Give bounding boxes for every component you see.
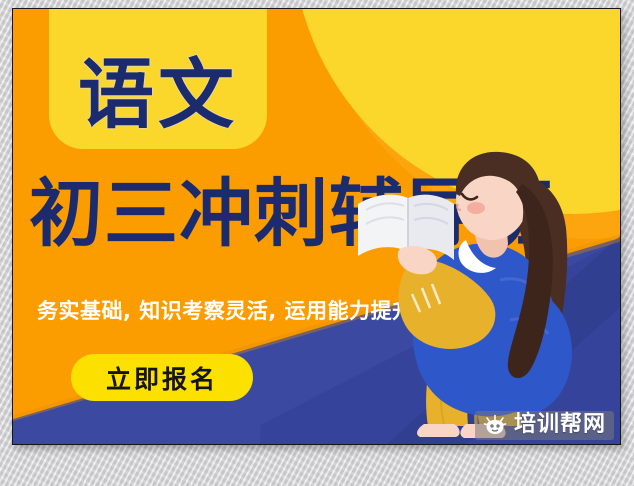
enroll-now-button-label: 立即报名 xyxy=(106,360,218,396)
subject-chip-label: 语文 xyxy=(78,57,238,133)
watermark: 培训帮网 xyxy=(475,411,614,440)
headline: 初三冲刺辅导班 xyxy=(29,177,609,252)
subtitle: 务实基础, 知识考察灵活, 运用能力提升 xyxy=(37,295,414,325)
poster-card: 语文 初三冲刺辅导班 务实基础, 知识考察灵活, 运用能力提升 立即报名 xyxy=(12,8,621,445)
sun-face-icon xyxy=(483,414,507,436)
enroll-now-button[interactable]: 立即报名 xyxy=(71,354,253,401)
poster-root: 语文 初三冲刺辅导班 务实基础, 知识考察灵活, 运用能力提升 立即报名 xyxy=(0,0,634,486)
watermark-text: 培训帮网 xyxy=(514,414,606,436)
subject-chip: 语文 xyxy=(49,8,267,149)
